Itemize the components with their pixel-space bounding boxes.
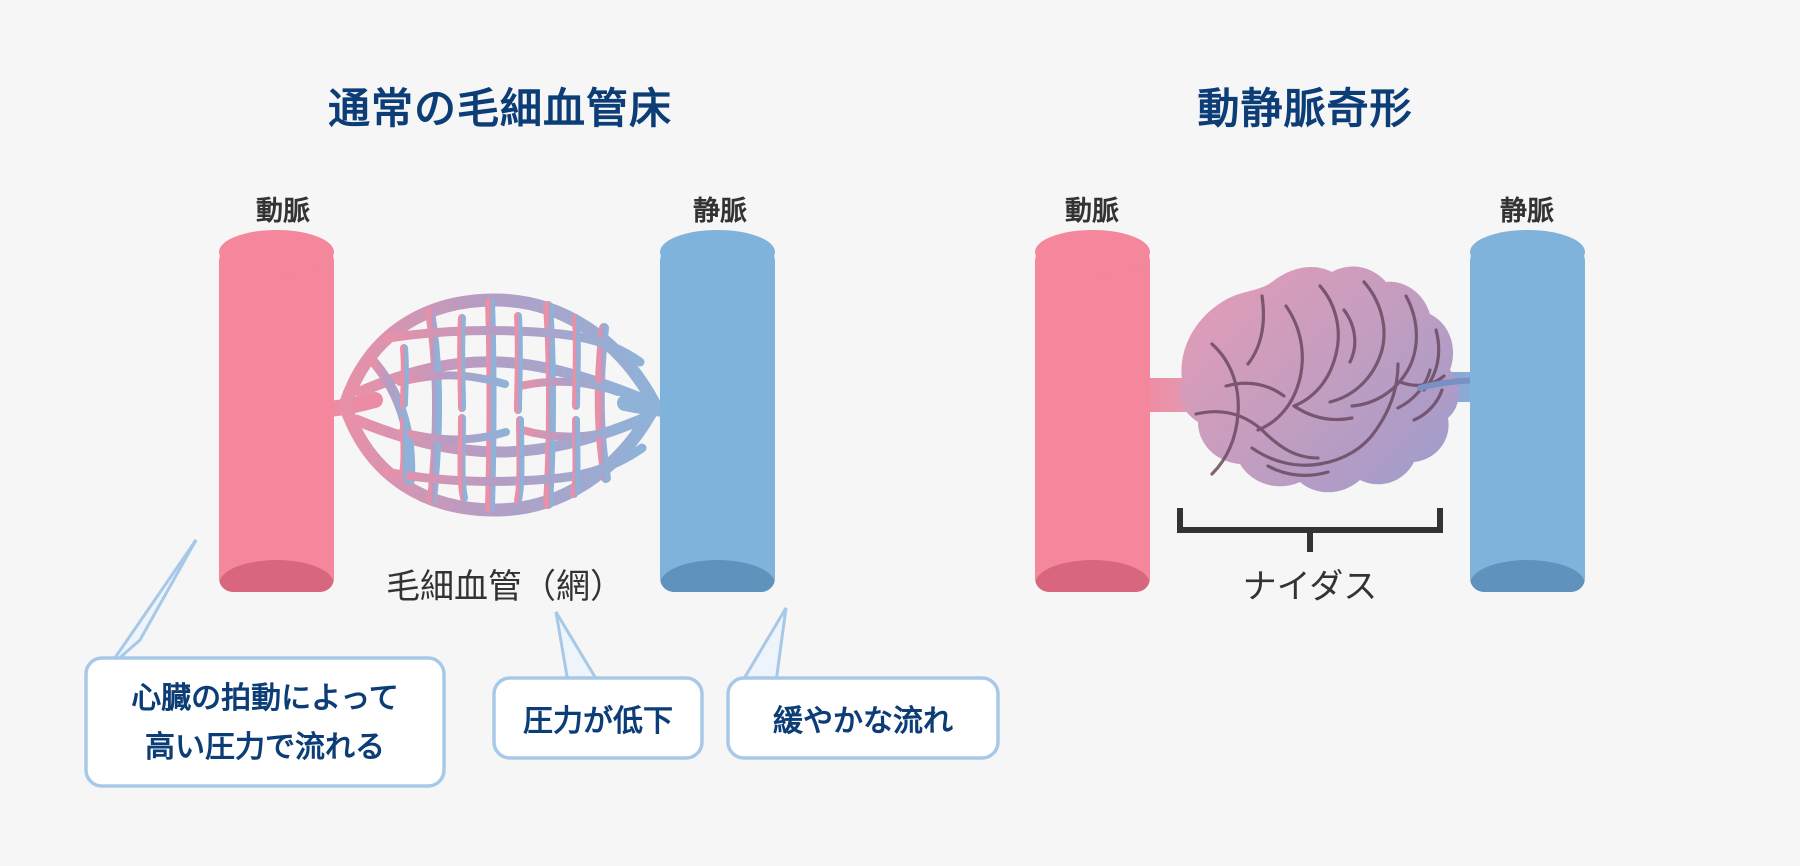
callout-artery-line-2: 高い圧力で流れる — [145, 731, 385, 764]
panel-title-avm: 動静脈奇形 — [1197, 85, 1412, 132]
artery-vessel-right — [1035, 230, 1150, 608]
nidus-structure-label: ナイダス — [1243, 568, 1378, 606]
vascular-comparison-diagram: 通常の毛細血管床 動静脈奇形 動脈 静脈 — [0, 0, 1800, 866]
diagram-canvas: 通常の毛細血管床 動静脈奇形 動脈 静脈 — [0, 0, 1800, 866]
artery-vessel-left — [219, 230, 334, 608]
callout-artery-line-1: 心臓の拍動によって — [131, 682, 399, 715]
vein-label-left: 静脈 — [693, 196, 747, 226]
artery-label-right: 動脈 — [1065, 196, 1119, 226]
vein-vessel-right — [1470, 230, 1585, 608]
panel-title-normal: 通常の毛細血管床 — [328, 85, 672, 132]
artery-label-left: 動脈 — [256, 196, 310, 226]
capillary-structure-label: 毛細血管（網） — [386, 568, 624, 606]
callout-slow-flow-line-1: 緩やかな流れ — [773, 705, 953, 738]
callout-pressure-drop-line-1: 圧力が低下 — [523, 704, 673, 738]
vein-label-right: 静脈 — [1500, 196, 1554, 226]
vein-vessel-left — [660, 230, 775, 608]
